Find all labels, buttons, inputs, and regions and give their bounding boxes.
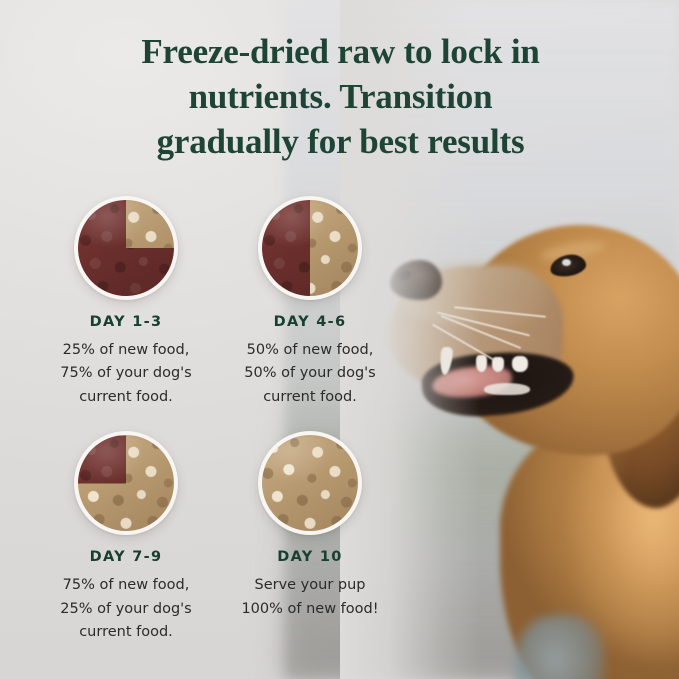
desc-line-2: 75% of your dog's	[34, 362, 218, 385]
desc-line-3: current food.	[34, 386, 218, 409]
desc-line-3: current food.	[218, 386, 402, 409]
bowl-day-7-9	[74, 431, 178, 535]
step-card-day-4-6: DAY 4-6 50% of new food, 50% of your dog…	[218, 196, 402, 409]
desc-line-2: 50% of your dog's	[218, 362, 402, 385]
desc-line-1: Serve your pup	[218, 574, 402, 597]
desc-line-2: 100% of new food!	[218, 598, 402, 621]
desc-line-1: 75% of new food,	[34, 574, 218, 597]
transition-steps-grid: DAY 1-3 25% of new food, 75% of your dog…	[34, 196, 402, 645]
bowl-day-10	[258, 431, 362, 535]
headline-line-2: nutrients. Transition	[68, 75, 613, 120]
step-card-day-7-9: DAY 7-9 75% of new food, 25% of your dog…	[34, 431, 218, 644]
day-label: DAY 7-9	[34, 549, 218, 565]
day-label: DAY 1-3	[34, 314, 218, 330]
step-card-day-10: DAY 10 Serve your pup 100% of new food!	[218, 431, 402, 644]
step-description: 75% of new food, 25% of your dog's curre…	[34, 574, 218, 644]
desc-line-1: 50% of new food,	[218, 339, 402, 362]
day-label: DAY 10	[218, 549, 402, 565]
desc-line-1: 25% of new food,	[34, 339, 218, 362]
bowl-day-4-6	[258, 196, 362, 300]
page-title: Freeze-dried raw to lock in nutrients. T…	[68, 30, 613, 164]
step-description: 25% of new food, 75% of your dog's curre…	[34, 339, 218, 409]
step-card-day-1-3: DAY 1-3 25% of new food, 75% of your dog…	[34, 196, 218, 409]
day-label: DAY 4-6	[218, 314, 402, 330]
step-description: Serve your pup 100% of new food!	[218, 574, 402, 621]
bowl-day-1-3	[74, 196, 178, 300]
desc-line-3: current food.	[34, 621, 218, 644]
headline-line-3: gradually for best results	[68, 120, 613, 165]
desc-line-2: 25% of your dog's	[34, 598, 218, 621]
transition-infographic: Freeze-dried raw to lock in nutrients. T…	[0, 0, 679, 679]
headline-line-1: Freeze-dried raw to lock in	[68, 30, 613, 75]
new-food-portion	[262, 435, 358, 531]
step-description: 50% of new food, 50% of your dog's curre…	[218, 339, 402, 409]
